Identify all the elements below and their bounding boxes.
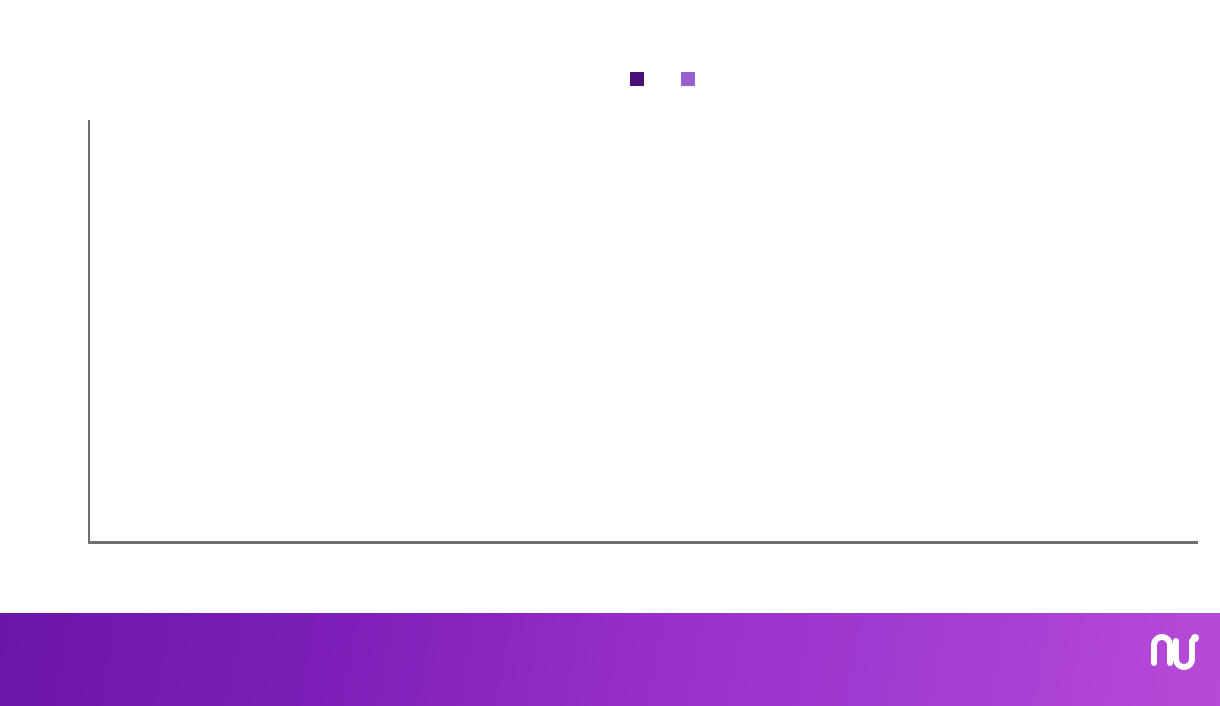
brand-logo[interactable] <box>1150 629 1210 675</box>
legend-item-human-avtar[interactable] <box>630 72 653 86</box>
bar-series-container <box>88 120 1198 542</box>
chart-card <box>0 0 1220 706</box>
y-axis-tick-labels <box>0 120 86 542</box>
footer-banner <box>0 613 1220 706</box>
legend-swatch-human-avtar <box>630 72 644 86</box>
market-us-logo-icon <box>1150 629 1200 675</box>
chart-legend <box>630 72 704 86</box>
legend-swatch-non-human <box>681 72 695 86</box>
legend-item-non-human[interactable] <box>681 72 704 86</box>
